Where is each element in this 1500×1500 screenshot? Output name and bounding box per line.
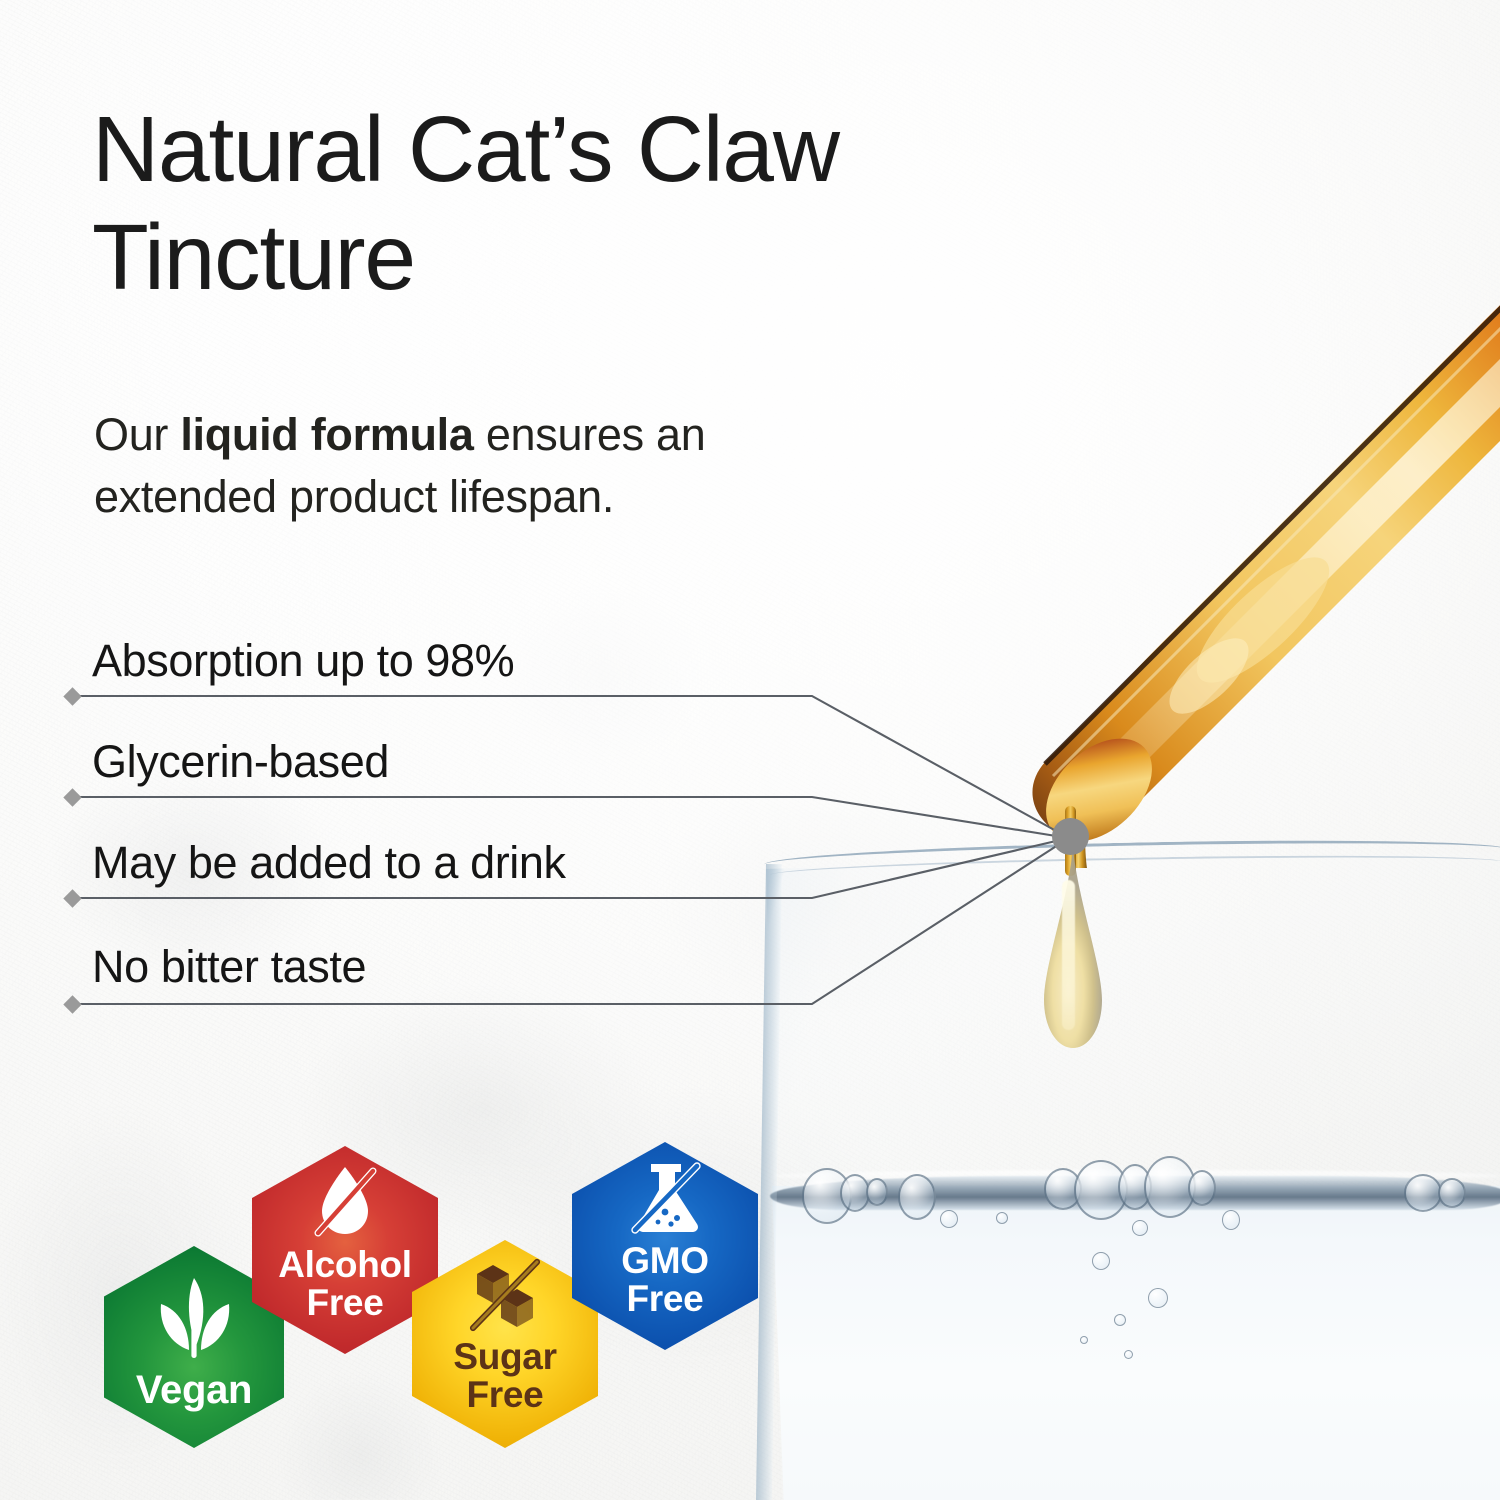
badge-alcohol-line-1: Alcohol [278,1246,412,1284]
droplet-slash-icon [305,1164,385,1240]
infographic-canvas: Natural Cat’s Claw Tincture Our liquid f… [0,0,1500,1500]
badge-gmo-line-1: GMO [621,1242,708,1280]
badge-vegan-label: Vegan [136,1368,252,1412]
flask-slash-icon [625,1160,705,1236]
leaf-icon [155,1274,233,1360]
badge-sugar-line-2: Free [453,1376,556,1414]
badge-gmo-line-2: Free [621,1280,708,1318]
badge-sugar-free: Sugar Free [412,1240,598,1448]
badge-sugar-line-1: Sugar [453,1338,556,1376]
badge-alcohol-line-2: Free [278,1284,412,1322]
certification-badges: Vegan Alcohol Free [0,0,1500,1500]
badge-gmo-free: GMO Free [572,1142,758,1350]
sugar-cubes-slash-icon [467,1258,543,1332]
